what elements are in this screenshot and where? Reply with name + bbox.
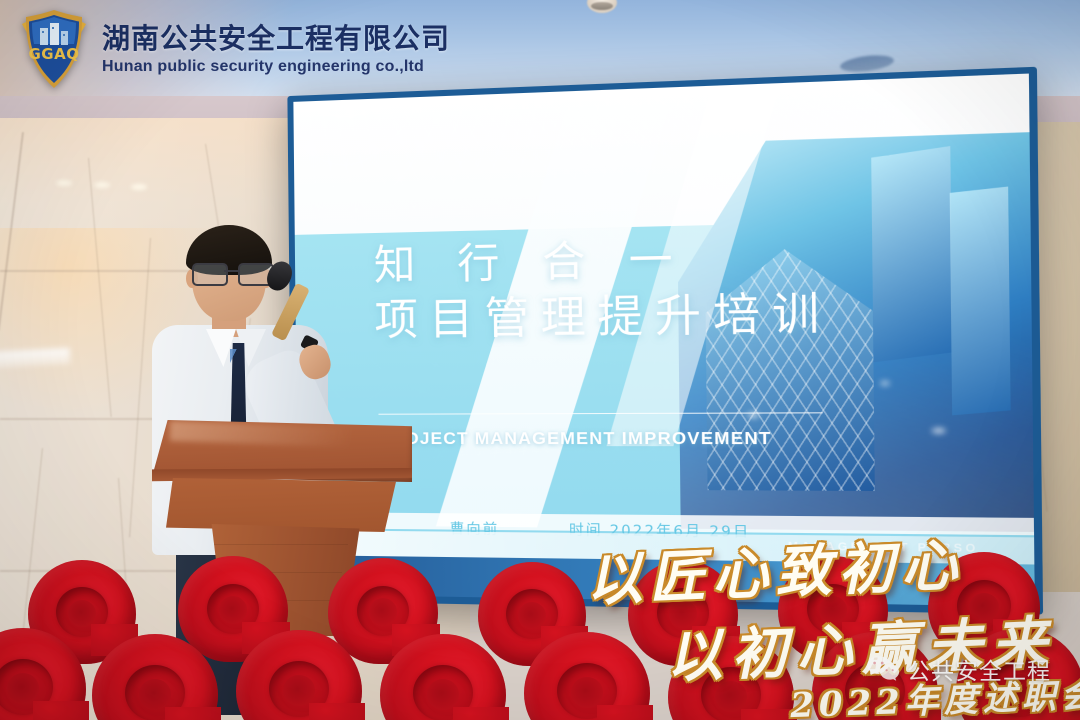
wechat-watermark: 公共安全工程 — [866, 652, 1051, 686]
wall-spotlight — [94, 182, 110, 188]
company-name-en: Hunan public security engineering co.,lt… — [102, 59, 450, 75]
watermark-text: 公共安全工程 — [907, 652, 1051, 686]
company-name-cn: 湖南公共安全工程有限公司 — [102, 25, 450, 53]
photo-scene: 知 行 合 一 项目管理提升培训 PROJECT MANAGEMENT IMPR… — [0, 0, 1080, 720]
chair — [92, 634, 218, 720]
glasses-icon — [192, 263, 270, 282]
wall-spotlight — [131, 184, 147, 190]
brand-text: 湖南公共安全工程有限公司 Hunan public security engin… — [102, 25, 450, 75]
podium-highlight — [170, 421, 351, 447]
svg-text:GGAQ: GGAQ — [29, 45, 80, 63]
wall-spotlight — [56, 180, 72, 186]
chair — [524, 632, 650, 720]
brand-header: GGAQ 湖南公共安全工程有限公司 Hunan public security … — [18, 8, 450, 92]
chair — [0, 628, 86, 720]
slide-title-line2: 项目管理提升培训 — [374, 285, 832, 350]
smoke-detector-icon — [587, 0, 617, 13]
ceiling-vent — [839, 53, 894, 74]
necktie-stripe — [230, 349, 247, 395]
ggaq-shield-logo: GGAQ — [18, 8, 90, 92]
slide-title-line1: 知 行 合 一 — [374, 234, 688, 290]
chair — [380, 634, 506, 720]
slide-title: 知 行 合 一 项目管理提升培训 — [374, 227, 832, 350]
chair — [236, 630, 362, 720]
slide-subtitle-en: PROJECT MANAGEMENT IMPROVEMENT — [379, 428, 772, 449]
wechat-icon — [866, 655, 900, 683]
